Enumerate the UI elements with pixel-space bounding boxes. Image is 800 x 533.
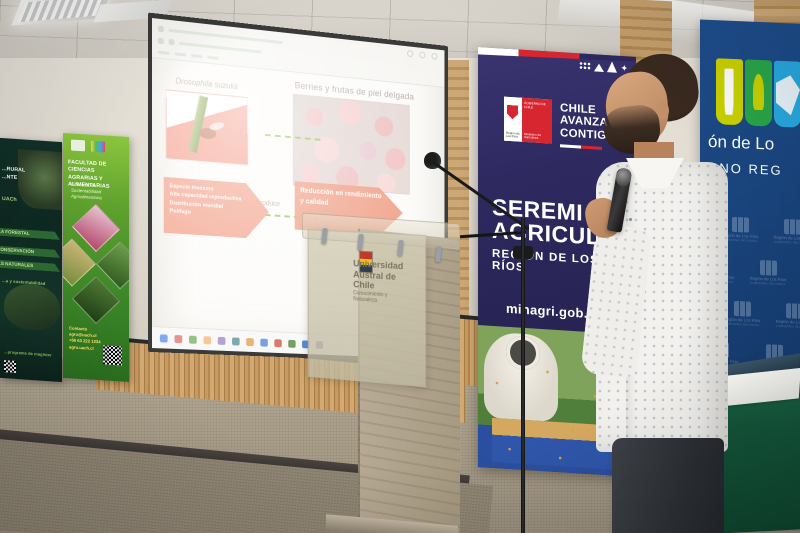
- speaker-trousers: [612, 438, 724, 533]
- banner-forestal-line-1: ...RURAL: [2, 166, 25, 174]
- crest-icon: [786, 303, 800, 319]
- fieldwork-photo: [4, 282, 60, 332]
- banner-forestal-pill-2: CONSERVACIÓN: [0, 245, 60, 258]
- ministry-label: Ministerio de Agricultura: [524, 132, 552, 141]
- taskbar-app-icon[interactable]: [274, 339, 281, 347]
- browser-back-icon[interactable]: [158, 38, 164, 45]
- gov-mark-label: GOBIERNO DE CHILE: [524, 101, 552, 111]
- taskbar-app-icon[interactable]: [218, 336, 226, 344]
- wave-icon: [776, 75, 800, 116]
- banner-facultad-logos: [71, 140, 105, 153]
- watermark-subtitle: GOBIERNO REGIONAL: [772, 324, 800, 330]
- presentation-photo-scene: Berries y frutas de piel delgada Drosoph…: [0, 0, 800, 533]
- institution-line-2: Austral de Chile: [353, 269, 401, 293]
- crest-person-panel: [745, 59, 772, 126]
- university-logo: [71, 140, 85, 152]
- banner-forestal: ...RURAL ...NTE UACh ...A FORESTAL CONSE…: [0, 138, 62, 382]
- search-icon[interactable]: [407, 50, 413, 57]
- fruit-stem: [188, 95, 208, 153]
- person-icon: [753, 74, 764, 110]
- crest-water-panel: [774, 61, 800, 128]
- watermark-subtitle: GOBIERNO REGIONAL: [746, 280, 790, 286]
- toolbar-item[interactable]: [174, 52, 186, 56]
- share-icon[interactable]: [431, 53, 437, 60]
- speaker: [582, 50, 732, 533]
- lectern-institution-logo: Universidad Austral de Chile Conocimient…: [353, 258, 401, 325]
- taskbar-app-icon[interactable]: [174, 334, 182, 342]
- crest-icon: [784, 219, 800, 235]
- institution-line-3: Conocimiento y Naturaleza: [353, 290, 401, 305]
- banner-forestal-pill-3: ...S NATURALES: [0, 259, 60, 272]
- browser-forward-icon[interactable]: [169, 39, 175, 46]
- watermark-logo: Región de Los Ríos GOBIERNO REGIONAL: [746, 259, 790, 286]
- crest-icon: [732, 217, 749, 233]
- toolbar-item[interactable]: [191, 54, 203, 58]
- watermark-logo: Región de Los Ríos GOBIERNO REGIONAL: [770, 218, 800, 245]
- lectern-glass-panel: Universidad Austral de Chile Conocimient…: [308, 229, 427, 387]
- watermark-logo: Región de Los Ríos GOBIERNO REGIONAL: [772, 303, 800, 330]
- toolbar-item[interactable]: [158, 50, 170, 54]
- diamond-photo-cow: [72, 204, 120, 252]
- fly-wing: [209, 121, 226, 131]
- taskbar-app-icon[interactable]: [232, 337, 240, 345]
- banner-facultad-contact: Contacto agro@uach.cl +56 63 222 1234 ag…: [69, 325, 101, 352]
- taskbar-app-icon[interactable]: [189, 335, 197, 343]
- banner-forestal-pill-1: ...A FORESTAL: [0, 227, 60, 240]
- taskbar-app-icon[interactable]: [203, 336, 211, 344]
- banner-facultad: FACULTAD DE CIENCIAS AGRARIAS Y ALIMENTA…: [63, 133, 129, 382]
- toolbar-item[interactable]: [207, 55, 218, 59]
- taskbar-app-icon[interactable]: [160, 334, 168, 342]
- berries-photo: [293, 94, 410, 195]
- ministry-block: GOBIERNO DE CHILE Ministerio de Agricult…: [522, 98, 552, 144]
- taskbar-app-icon[interactable]: [260, 338, 267, 346]
- qr-code-icon: [103, 345, 122, 365]
- gear-icon[interactable]: [419, 51, 425, 58]
- shield-icon: [507, 105, 518, 120]
- taskbar-app-icon[interactable]: [246, 338, 254, 346]
- crest-icon: [760, 260, 777, 276]
- lectern: Universidad Austral de Chile Conocimient…: [300, 232, 460, 532]
- banner-forestal-line-2: ...NTE: [2, 174, 17, 181]
- shirt-button: [629, 218, 632, 221]
- banner-facultad-subtitle: Liderando la Sustentabilidad Agroaliment…: [71, 182, 125, 203]
- taskbar-app-icon[interactable]: [288, 339, 295, 347]
- watermark-subtitle: GOBIERNO REGIONAL: [770, 239, 800, 245]
- forest-photo: [18, 149, 62, 210]
- gobierno-de-chile-logo: Región de Los Ríos GOBIERNO DE CHILE Min…: [504, 97, 552, 144]
- logo-shield-area: Región de Los Ríos: [504, 97, 522, 142]
- traits-arrow-box: Especie invasora Alta capacidad reproduc…: [164, 177, 269, 240]
- microphone-stand-pole: [521, 218, 525, 533]
- anniversary-logo: [91, 141, 105, 153]
- banner-forestal-institution: UACh: [2, 196, 17, 203]
- drosophila-photo: [166, 89, 248, 165]
- gov-mark-top: Región de Los Ríos: [506, 131, 522, 140]
- browser-tab-icon: [158, 26, 164, 33]
- microphone-grille: [615, 167, 633, 187]
- crest-icon: [734, 301, 751, 317]
- diamond-photo-students: [72, 276, 120, 324]
- species-label: Drosophila suzukii: [175, 76, 237, 91]
- qr-code-icon: [4, 360, 16, 373]
- banner-forestal-footer: ...programa de magíster: [4, 349, 52, 357]
